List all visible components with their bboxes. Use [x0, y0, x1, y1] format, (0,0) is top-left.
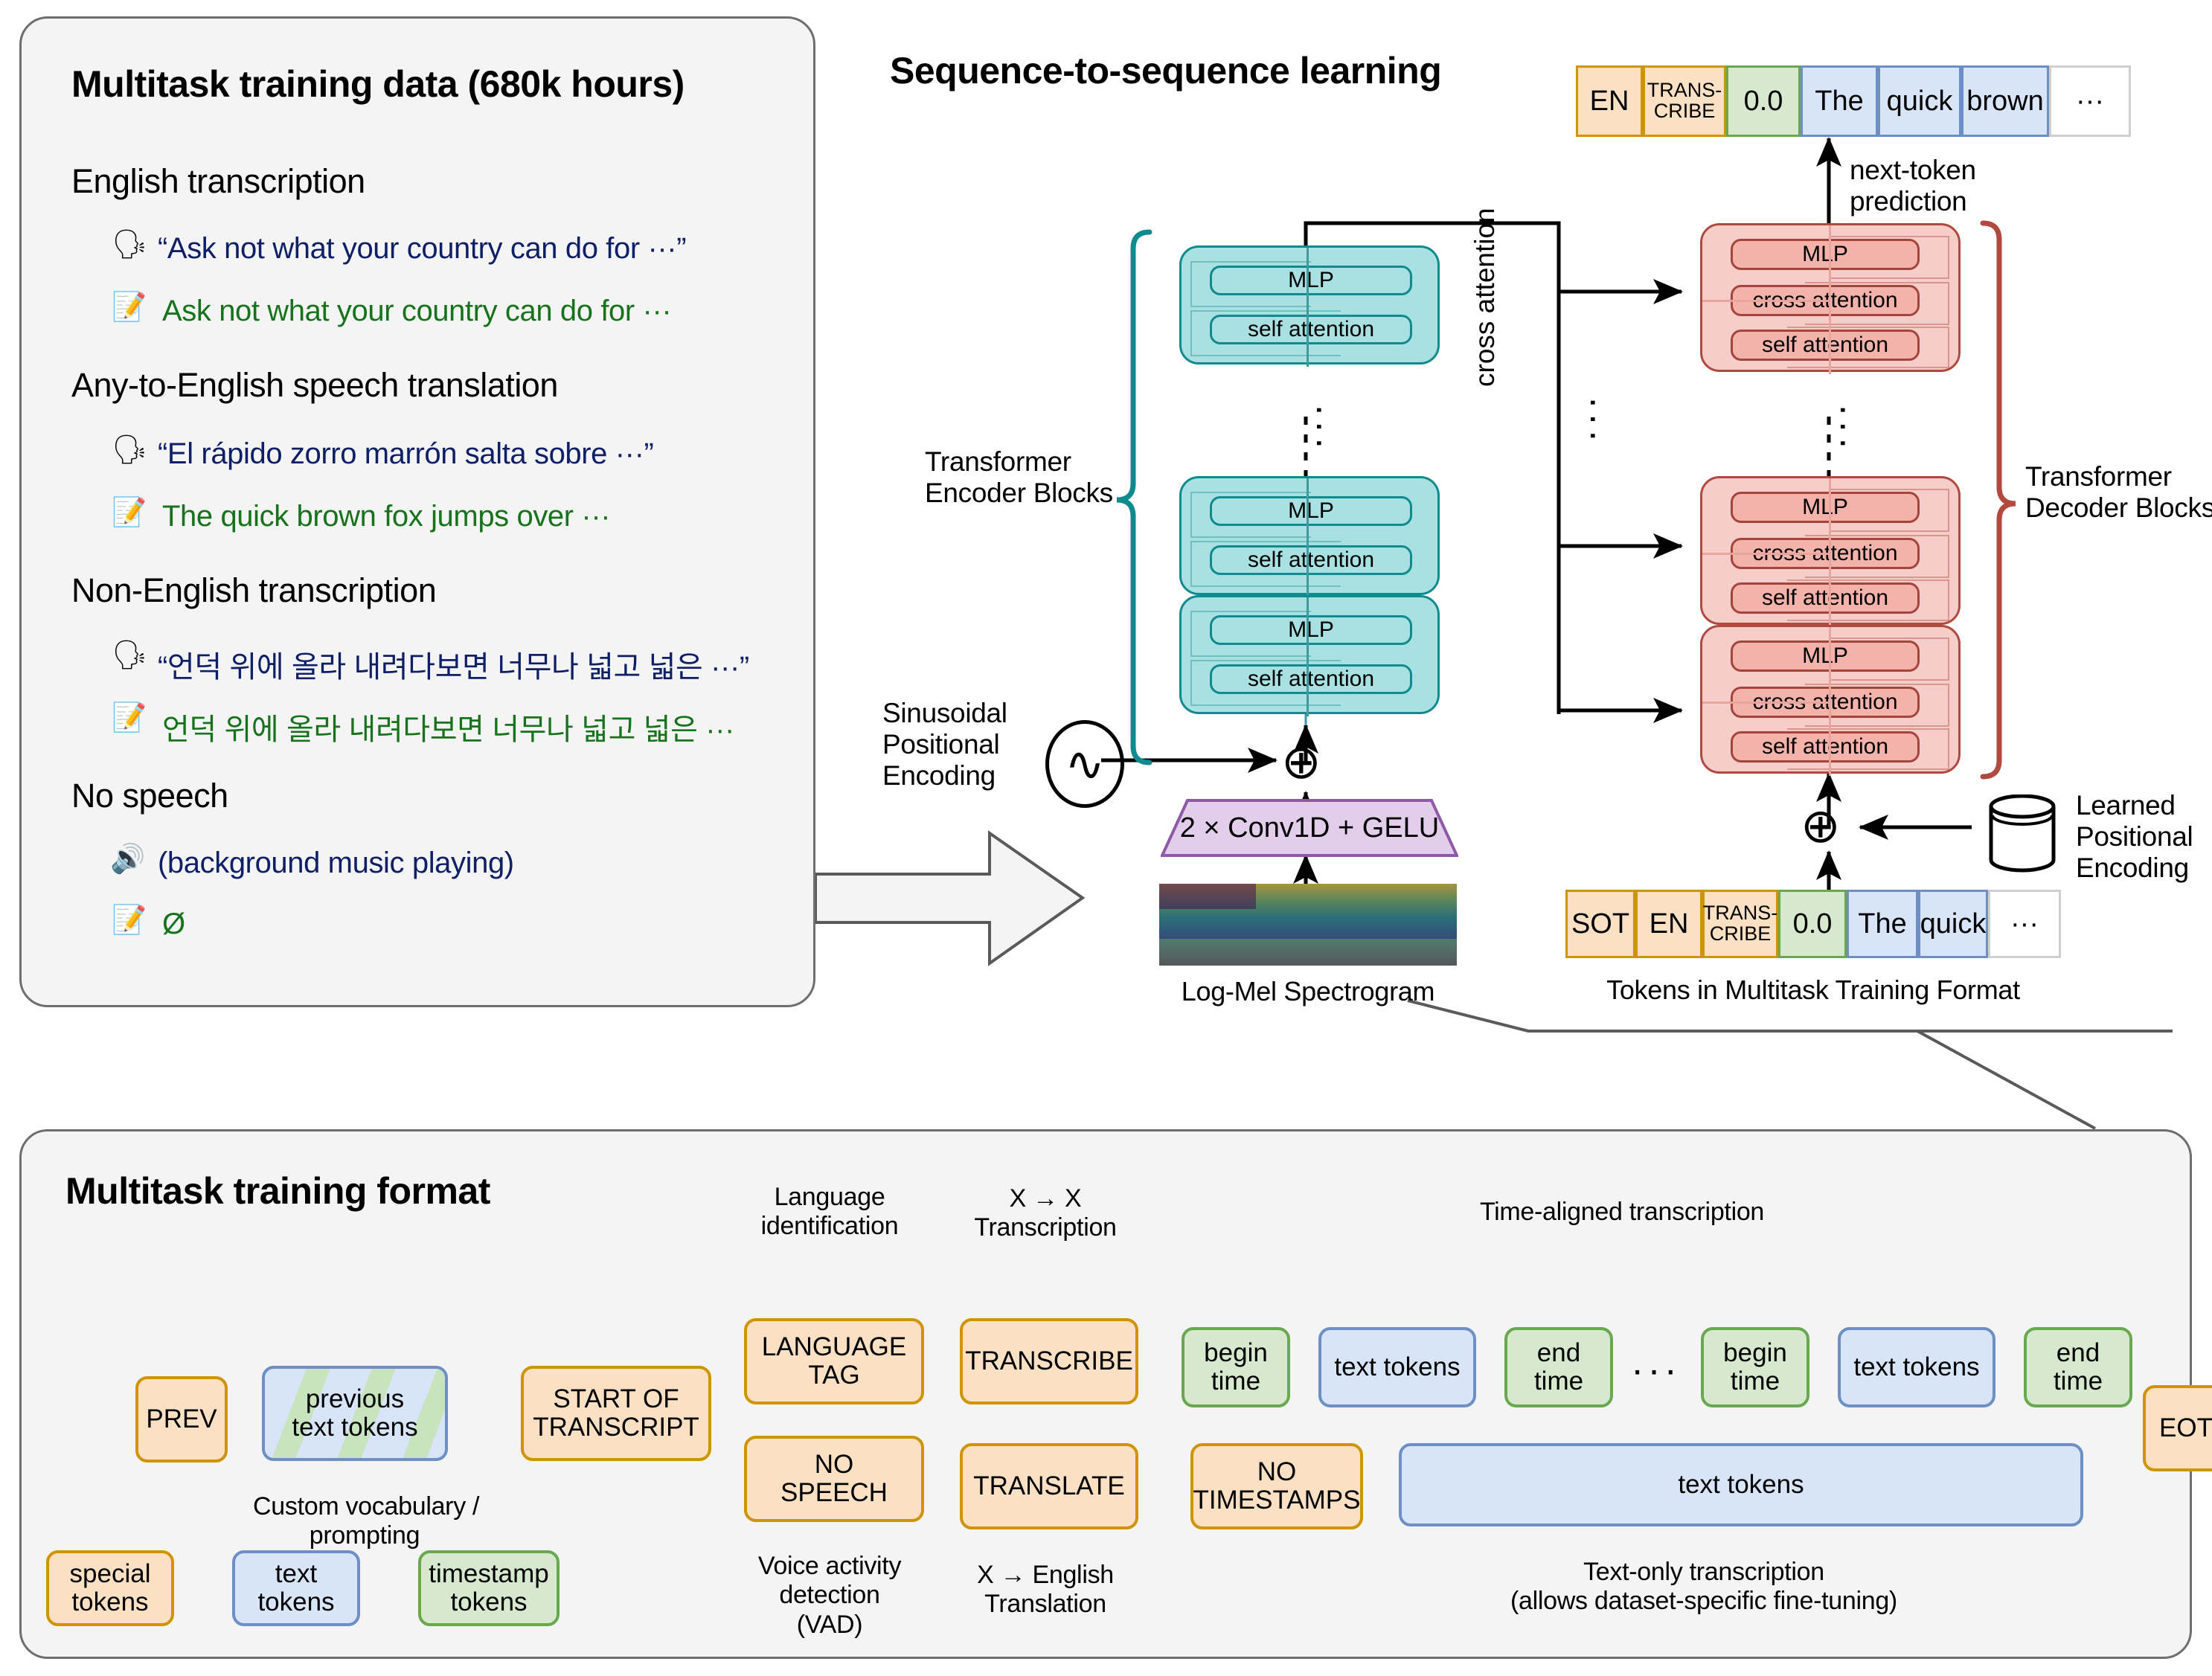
decoder-sublayer-mlp: MLP [1731, 492, 1920, 523]
token-cell: TRANS- CRIBE [1702, 890, 1778, 958]
token-cell: ··· [2049, 65, 2131, 137]
node-text-tokens-long[interactable]: text tokens [1399, 1443, 2083, 1526]
encoder-sublayer-self-attention: self attention [1210, 315, 1412, 344]
node-prev[interactable]: PREV [135, 1376, 228, 1463]
token-cell: The [1801, 65, 1878, 137]
cross-attention-ellipsis-icon: ··· [1575, 396, 1614, 446]
memo-pencil-icon: 📝 [112, 498, 147, 527]
sample-transcript-text: Ø [162, 908, 185, 941]
format-panel-title: Multitask training format [65, 1169, 490, 1213]
encoder-sublayer-self-attention: self attention [1210, 664, 1412, 694]
sample-transcript-text: The quick brown fox jumps over ··· [162, 500, 610, 533]
legend-timestamp-tokens: timestamp tokens [418, 1550, 560, 1626]
training-data-title: Multitask training data (680k hours) [71, 62, 685, 106]
decoder-block: MLP cross attention self attention [1700, 223, 1961, 372]
section-heading-english-transcription: English transcription [71, 162, 365, 201]
encoder-bracket-label: Transformer Encoder Blocks [925, 446, 1113, 509]
decoder-ellipsis-icon: ··· [1825, 404, 1864, 454]
decoder-sublayer-mlp: MLP [1731, 239, 1920, 270]
token-cell: brown [1961, 65, 2049, 137]
annotation-x-to-x-transcription: X → X Transcription [945, 1184, 1146, 1243]
database-cylinder-icon [1988, 794, 2056, 873]
annotation-voice-activity-detection: Voice activity detection (VAD) [729, 1552, 930, 1640]
speaking-head-icon: 🗣 [112, 436, 147, 464]
node-language-tag[interactable]: LANGUAGE TAG [744, 1318, 924, 1404]
log-mel-spectrogram-caption: Log-Mel Spectrogram [1159, 976, 1457, 1007]
sample-speech-text: (background music playing) [158, 847, 514, 880]
legend-text-tokens: text tokens [232, 1550, 360, 1626]
encoder-sublayer-mlp: MLP [1210, 266, 1412, 295]
sample-speech-text: “Ask not what your country can do for ··… [158, 232, 686, 266]
sample-speech-text: “El rápido zorro marrón salta sobre ···” [158, 437, 653, 471]
seq2seq-title: Sequence-to-sequence learning [890, 49, 1441, 92]
token-cell: 0.0 [1726, 65, 1801, 137]
node-start-of-transcript[interactable]: START OF TRANSCRIPT [521, 1366, 711, 1461]
section-heading-speech-translation: Any-to-English speech translation [71, 366, 558, 405]
encoder-sublayer-self-attention: self attention [1210, 545, 1412, 575]
decoder-bracket-label: Transformer Decoder Blocks [2025, 461, 2212, 524]
node-end-time[interactable]: end time [2024, 1327, 2132, 1407]
annotation-time-aligned-transcription: Time-aligned transcription [1324, 1198, 1920, 1227]
node-previous-text-tokens[interactable]: previous text tokens [262, 1366, 448, 1461]
legend-special-tokens: special tokens [46, 1550, 174, 1626]
node-eot[interactable]: EOT [2143, 1385, 2212, 1471]
log-mel-spectrogram-image [1159, 884, 1457, 966]
speaking-head-icon: 🗣 [112, 641, 147, 670]
conv1d-gelu-label: 2 × Conv1D + GELU [1161, 799, 1458, 857]
encoder-add-icon: ⊕ [1281, 738, 1321, 786]
tokens-format-caption: Tokens in Multitask Training Format [1565, 975, 2061, 1006]
node-begin-time[interactable]: begin time [1182, 1327, 1290, 1407]
cross-attention-label: cross attention [1469, 208, 1501, 387]
decoder-block: MLP cross attention self attention [1700, 625, 1961, 774]
section-heading-non-english-transcription: Non-English transcription [71, 571, 436, 610]
memo-pencil-icon: 📝 [112, 704, 147, 732]
annotation-x-to-english-translation: X → English Translation [945, 1561, 1146, 1619]
token-cell: quick [1878, 65, 1961, 137]
input-token-strip: SOT EN TRANS- CRIBE 0.0 The quick ··· [1565, 890, 2061, 958]
node-text-tokens[interactable]: text tokens [1838, 1327, 1995, 1407]
timestamp-sequence-ellipsis-icon: ··· [1631, 1351, 1681, 1390]
encoder-ellipsis-icon: ··· [1301, 404, 1340, 454]
node-no-timestamps[interactable]: NO TIMESTAMPS [1190, 1443, 1363, 1529]
token-cell: TRANS- CRIBE [1643, 65, 1726, 137]
node-no-speech[interactable]: NO SPEECH [744, 1436, 924, 1522]
token-cell: The [1847, 890, 1918, 958]
encoder-block: MLP self attention [1179, 245, 1440, 365]
decoder-sublayer-self-attention: self attention [1731, 582, 1920, 614]
loudspeaker-icon: 🔊 [110, 845, 145, 873]
decoder-sublayer-self-attention: self attention [1731, 330, 1920, 361]
node-translate[interactable]: TRANSLATE [960, 1443, 1138, 1529]
sample-transcript-text: Ask not what your country can do for ··· [162, 295, 671, 328]
node-begin-time[interactable]: begin time [1701, 1327, 1809, 1407]
token-cell: EN [1635, 890, 1702, 958]
memo-pencil-icon: 📝 [112, 906, 147, 934]
decoder-add-icon: ⊕ [1801, 802, 1841, 850]
conv1d-gelu-block: 2 × Conv1D + GELU [1161, 799, 1458, 857]
decoder-block: MLP cross attention self attention [1700, 476, 1961, 625]
token-cell: quick [1918, 890, 1988, 958]
sample-speech-text: “언덕 위에 올라 내려다보면 너무나 넓고 넓은 ···” [158, 643, 749, 686]
token-cell: SOT [1565, 890, 1635, 958]
sine-wave-icon: ∿ [1045, 720, 1124, 808]
encoder-block: MLP self attention [1179, 595, 1440, 714]
section-heading-no-speech: No speech [71, 777, 228, 815]
decoder-sublayer-self-attention: self attention [1731, 731, 1920, 762]
annotation-text-only-transcription: Text-only transcription (allows dataset-… [1406, 1558, 2001, 1616]
speaking-head-icon: 🗣 [112, 231, 147, 259]
token-cell: ··· [1988, 890, 2061, 958]
next-token-prediction-label: next-token prediction [1850, 155, 1976, 217]
annotation-custom-vocabulary: Custom vocabulary / prompting [253, 1492, 476, 1551]
memo-pencil-icon: 📝 [112, 293, 147, 321]
encoder-block: MLP self attention [1179, 476, 1440, 595]
output-token-strip: EN TRANS- CRIBE 0.0 The quick brown ··· [1576, 65, 2131, 137]
decoder-sublayer-mlp: MLP [1731, 640, 1920, 672]
encoder-sublayer-mlp: MLP [1210, 615, 1412, 645]
sinusoidal-positional-encoding-label: Sinusoidal Positional Encoding [882, 698, 1007, 792]
sample-transcript-text: 언덕 위에 올라 내려다보면 너무나 넓고 넓은 ··· [162, 705, 734, 748]
node-transcribe[interactable]: TRANSCRIBE [960, 1318, 1138, 1404]
learned-positional-encoding-label: Learned Positional Encoding [2076, 790, 2193, 884]
node-end-time[interactable]: end time [1504, 1327, 1613, 1407]
node-text-tokens[interactable]: text tokens [1318, 1327, 1476, 1407]
annotation-language-identification: Language identification [729, 1183, 930, 1242]
token-cell: EN [1576, 65, 1643, 137]
encoder-sublayer-mlp: MLP [1210, 496, 1412, 526]
token-cell: 0.0 [1778, 890, 1847, 958]
